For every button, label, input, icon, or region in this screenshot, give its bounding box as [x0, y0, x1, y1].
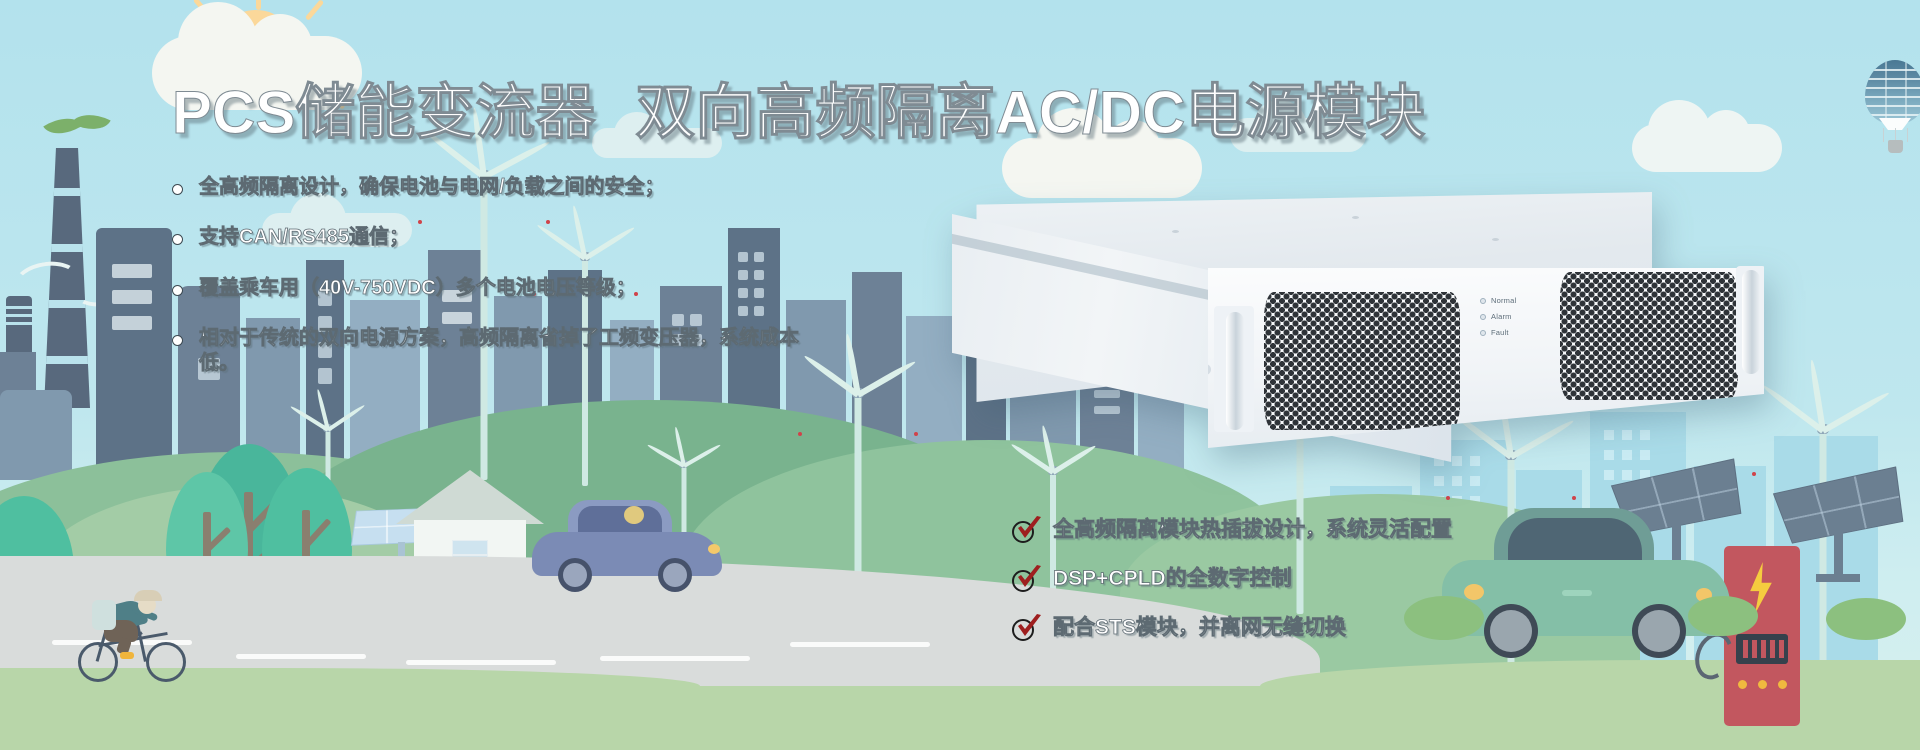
device-led-alarm: Alarm [1480, 312, 1512, 321]
feature-item: 相对于传统的双向电源方案，高频隔离省掉了工频变压器，系统成本低。 [172, 326, 812, 375]
title-part-1: PCS储能变流器 [172, 79, 595, 146]
highlight-item: 全高频隔离模块热插拔设计，系统灵活配置 [1012, 516, 1632, 544]
checkmark-icon [1016, 516, 1042, 542]
led-indicator [1480, 298, 1486, 304]
cloud-icon [1632, 124, 1782, 172]
highlight-item: DSP+CPLD的全数字控制 [1012, 565, 1632, 593]
feature-list: 全高频隔离设计，确保电池与电网/负载之间的安全； 支持CAN/RS485通信； … [172, 175, 902, 401]
device-handle-right [1742, 270, 1760, 374]
device-handle-left [1226, 312, 1244, 430]
device-led-fault: Fault [1480, 328, 1509, 337]
road-marking [406, 660, 556, 665]
page-title: PCS储能变流器双向高频隔离AC/DC电源模块 [172, 64, 1425, 151]
led-label: Fault [1491, 328, 1509, 337]
hot-air-balloon-icon [1865, 60, 1920, 160]
cyclist-icon [78, 572, 198, 682]
led-label: Alarm [1491, 312, 1512, 321]
car-icon [532, 500, 722, 590]
bullet-dot-icon [172, 234, 183, 245]
led-indicator [1480, 330, 1486, 336]
feature-item: 覆盖乘车用（40V-750VDC）多个电池电压等级； [172, 276, 902, 300]
pcs-power-module-product-image: Normal Alarm Fault [952, 168, 1762, 498]
feature-item: 全高频隔离设计，确保电池与电网/负载之间的安全； [172, 175, 902, 199]
device-led-normal: Normal [1480, 296, 1516, 305]
bullet-dot-icon [172, 335, 183, 346]
led-indicator [1480, 314, 1486, 320]
ev-charging-station-icon [1724, 546, 1834, 736]
feature-text: 相对于传统的双向电源方案，高频隔离省掉了工频变压器，系统成本低。 [199, 326, 812, 375]
check-circle-icon [1012, 565, 1042, 593]
highlight-list: 全高频隔离模块热插拔设计，系统灵活配置 DSP+CPLD的全数字控制 配合STS… [1012, 516, 1632, 663]
road-marking [790, 642, 930, 647]
bullet-dot-icon [172, 285, 183, 296]
highlight-text: 全高频隔离模块热插拔设计，系统灵活配置 [1053, 517, 1452, 542]
check-circle-icon [1012, 516, 1042, 544]
highlight-text: 配合STS模块，并离网无缝切换 [1053, 615, 1346, 640]
device-front-panel: Normal Alarm Fault [1208, 268, 1764, 448]
feature-text: 全高频隔离设计，确保电池与电网/负载之间的安全； [199, 175, 665, 199]
title-part-2: 双向高频隔离AC/DC电源模块 [635, 79, 1425, 146]
checkmark-icon [1016, 614, 1042, 640]
feature-text: 支持CAN/RS485通信； [199, 225, 409, 249]
checkmark-icon [1016, 565, 1042, 591]
check-circle-icon [1012, 614, 1042, 642]
device-vent-grille-left [1264, 292, 1460, 430]
road-marking [236, 654, 366, 659]
bush-icon [1688, 596, 1758, 636]
bush-icon [1826, 598, 1906, 640]
feature-item: 支持CAN/RS485通信； [172, 225, 902, 249]
feature-text: 覆盖乘车用（40V-750VDC）多个电池电压等级； [199, 276, 636, 300]
road-marking [600, 656, 750, 661]
highlight-item: 配合STS模块，并离网无缝切换 [1012, 614, 1632, 642]
bullet-dot-icon [172, 184, 183, 195]
led-label: Normal [1491, 296, 1516, 305]
product-banner: Normal Alarm Fault PCS储能变流器双向高频隔离AC/DC电源… [0, 0, 1920, 750]
device-vent-grille-right [1560, 272, 1738, 400]
highlight-text: DSP+CPLD的全数字控制 [1053, 566, 1292, 591]
